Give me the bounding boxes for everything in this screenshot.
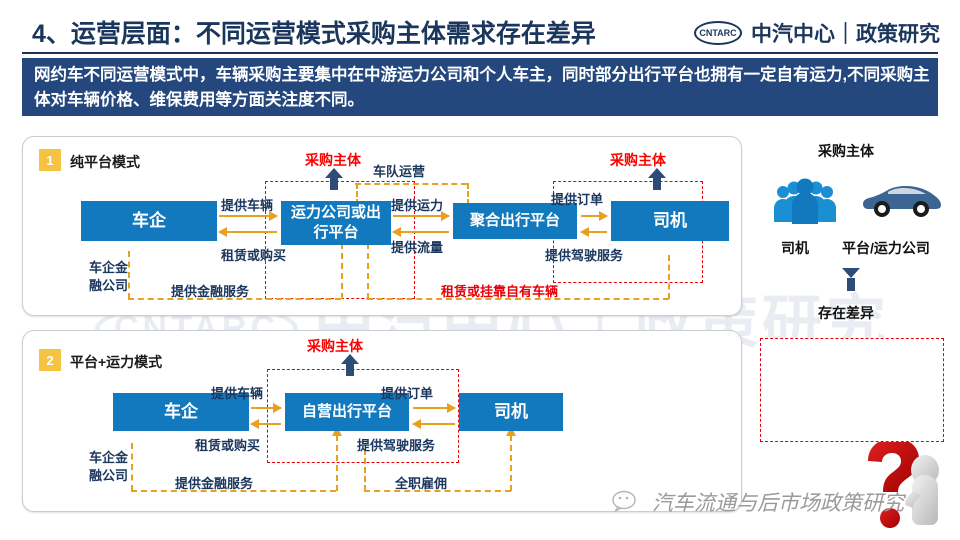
panel1-fleet-dashed-v-right	[467, 183, 469, 205]
wechat-icon	[612, 490, 642, 514]
panel2-finance-dashed-v-left	[131, 443, 133, 491]
right-column-driver-label: 司机	[781, 238, 809, 258]
panel1-label-lease-or-affiliate: 租赁或挂靠自有车辆	[441, 281, 558, 300]
page-title: 4、运营层面：不同运营模式采购主体需求存在差异	[32, 14, 596, 50]
panel1-finance-dashed-v-right	[341, 243, 343, 299]
drivers-group-icon	[772, 178, 838, 224]
panel1-label-supply-order: 提供订单	[551, 189, 603, 208]
concerns-box	[760, 338, 944, 442]
panel2-arrow-supply-order	[413, 407, 455, 409]
summary-banner-text: 网约车不同运营模式中，车辆采购主要集中在中游运力公司和个人车主，同时部分出行平台…	[34, 63, 930, 113]
brand: CNTARC 中汽中心｜政策研究	[694, 18, 940, 48]
panel2-label-supply-order: 提供订单	[381, 383, 433, 402]
panel1-arrow-supply-order	[581, 215, 607, 217]
brand-text: 中汽中心｜政策研究	[751, 18, 940, 48]
panel1-arrow-supply-traffic	[393, 231, 449, 233]
panel1-arrow-supply-vehicle	[219, 215, 277, 217]
panel1-arrow-lease-or-buy	[219, 231, 277, 233]
title-divider	[22, 52, 938, 54]
panel1-arrow-supply-driving	[581, 231, 607, 233]
panel1-affiliate-dashed-v-right	[668, 255, 670, 299]
cntarc-logo-icon: CNTARC	[694, 21, 742, 45]
wechat-name: 汽车流通与后市场政策研究	[652, 487, 904, 517]
panel2-label-supply-driving: 提供驾驶服务	[357, 435, 435, 454]
panel1-label-lease-or-buy: 租赁或购买	[221, 245, 286, 264]
panel1-finance-dashed-v-left	[128, 251, 130, 299]
panel1-label-supply-driving: 提供驾驶服务	[545, 245, 623, 264]
question-mark-figure-icon	[846, 435, 954, 535]
panel-pure-platform-mode: 1 纯平台模式 采购主体 采购主体 车队运营 车企 运力公司或出行平台 聚合出行…	[22, 136, 742, 316]
panel1-label-supply-vehicle: 提供车辆	[221, 195, 273, 214]
panel1-label-supply-traffic: 提供流量	[391, 237, 443, 256]
wechat-footer: 汽车流通与后市场政策研究	[612, 487, 904, 517]
panel2-badge: 2	[39, 349, 61, 371]
panel2-label-oem-finance-2: 融公司	[89, 465, 128, 484]
panel2-label-full-time: 全职雇佣	[395, 473, 447, 492]
panel1-fleet-ops-label: 车队运营	[373, 161, 425, 180]
panel1-purchase-label-right: 采购主体	[610, 150, 666, 170]
summary-banner: 网约车不同运营模式中，车辆采购主要集中在中游运力公司和个人车主，同时部分出行平台…	[22, 58, 938, 116]
car-icon	[862, 182, 942, 222]
panel2-purchase-label: 采购主体	[307, 336, 363, 356]
panel2-fulltime-dashed-v-left	[364, 449, 366, 491]
panel1-box-oem: 车企	[81, 201, 217, 241]
right-column-difference-label: 存在差异	[818, 303, 874, 323]
panel2-label-oem-finance-1: 车企金	[89, 447, 128, 466]
panel2-arrow-lease-or-buy	[251, 423, 281, 425]
panel2-label-supply-vehicle: 提供车辆	[211, 383, 263, 402]
panel1-purchase-label-left: 采购主体	[305, 150, 361, 170]
panel2-fulltime-dashed-v-right	[510, 435, 512, 491]
panel2-finance-dashed-v-right	[336, 435, 338, 491]
panel1-box-capacity-company: 运力公司或出行平台	[281, 201, 391, 245]
panel1-affiliate-dashed-v-left	[367, 243, 369, 299]
panel2-label-lease-or-buy: 租赁或购买	[195, 435, 260, 454]
panel1-label-oem-finance-2: 融公司	[89, 275, 128, 294]
panel1-box-aggregator: 聚合出行平台	[453, 203, 577, 239]
right-column-title: 采购主体	[818, 141, 874, 161]
right-column-platform-label: 平台/运力公司	[842, 238, 930, 258]
slide: CNTARC中汽中心｜政策研究 4、运营层面：不同运营模式采购主体需求存在差异 …	[0, 0, 960, 540]
panel1-arrow-supply-capacity	[393, 215, 449, 217]
panel1-label-financial-service: 提供金融服务	[171, 281, 249, 300]
panel2-label-financial-service: 提供金融服务	[175, 473, 253, 492]
panel-platform-plus-capacity-mode: 2 平台+运力模式 采购主体 车企 自营出行平台 司机 提供车辆 租赁或购买 提…	[22, 330, 742, 512]
panel1-fleet-dashed-h	[355, 183, 467, 185]
panel1-box-driver: 司机	[611, 201, 729, 241]
panel1-title: 纯平台模式	[70, 152, 140, 172]
panel1-badge: 1	[39, 149, 61, 171]
panel1-label-oem-finance-1: 车企金	[89, 257, 128, 276]
panel2-box-driver: 司机	[459, 393, 563, 431]
panel2-arrow-supply-driving	[413, 423, 455, 425]
panel1-label-supply-capacity: 提供运力	[391, 195, 443, 214]
panel2-title: 平台+运力模式	[70, 352, 162, 372]
panel2-arrow-supply-vehicle	[251, 407, 281, 409]
